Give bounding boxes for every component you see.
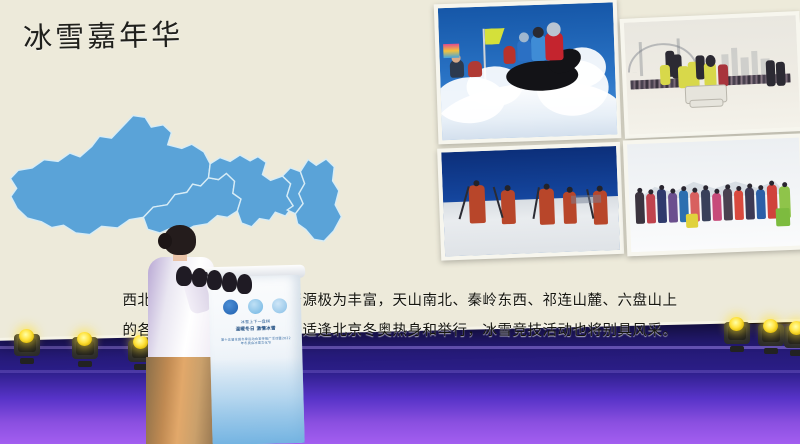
photo-group-crowd	[623, 133, 800, 256]
emblem-snowflake-icon	[247, 298, 262, 313]
podium-text-line-1: 冰雪上下一盘棋	[219, 319, 291, 325]
front-stage-light-1	[14, 330, 40, 360]
microphone-icon	[192, 268, 207, 287]
front-stage-light-2	[72, 333, 98, 363]
emblem-blue-icon	[223, 299, 238, 314]
photo-collage	[434, 0, 800, 261]
speaker-hair-bun	[158, 233, 172, 249]
front-stage-light-4	[724, 318, 750, 348]
podium-text-line-2: 温暖冬日 激情冰雪	[220, 327, 292, 333]
podium-front-panel: 冰雪上下一盘棋 温暖冬日 激情冰雪 第十五届全国冬季运动会宣传推广活动暨2022…	[208, 275, 304, 444]
front-stage-light-6	[784, 322, 800, 352]
podium-ice-graphic	[210, 357, 304, 444]
microphone-icon	[222, 272, 237, 292]
photo-bobsled-team	[620, 11, 800, 139]
podium-logo-row	[223, 297, 287, 315]
microphone-icon	[237, 274, 252, 294]
podium-text-line-3: 第十五届全国冬季运动会宣传推广活动暨2022年冬奥会冰雪文化节	[220, 336, 292, 347]
microphone-icon	[176, 266, 192, 286]
speaker-lower-body	[146, 357, 218, 444]
stage-floor	[0, 324, 800, 444]
photo-snow-tubing	[434, 0, 622, 144]
emblem-ice-icon	[272, 298, 287, 313]
projection-screen: 冰雪嘉年华	[0, 0, 800, 338]
microphone-icon	[207, 270, 222, 290]
page-title: 冰雪嘉年华	[23, 21, 184, 54]
presentation-stage-photo: 冰雪嘉年华	[0, 0, 800, 444]
photo-skiers	[437, 142, 624, 261]
microphone-cluster	[176, 256, 262, 296]
front-stage-light-5	[758, 320, 784, 350]
